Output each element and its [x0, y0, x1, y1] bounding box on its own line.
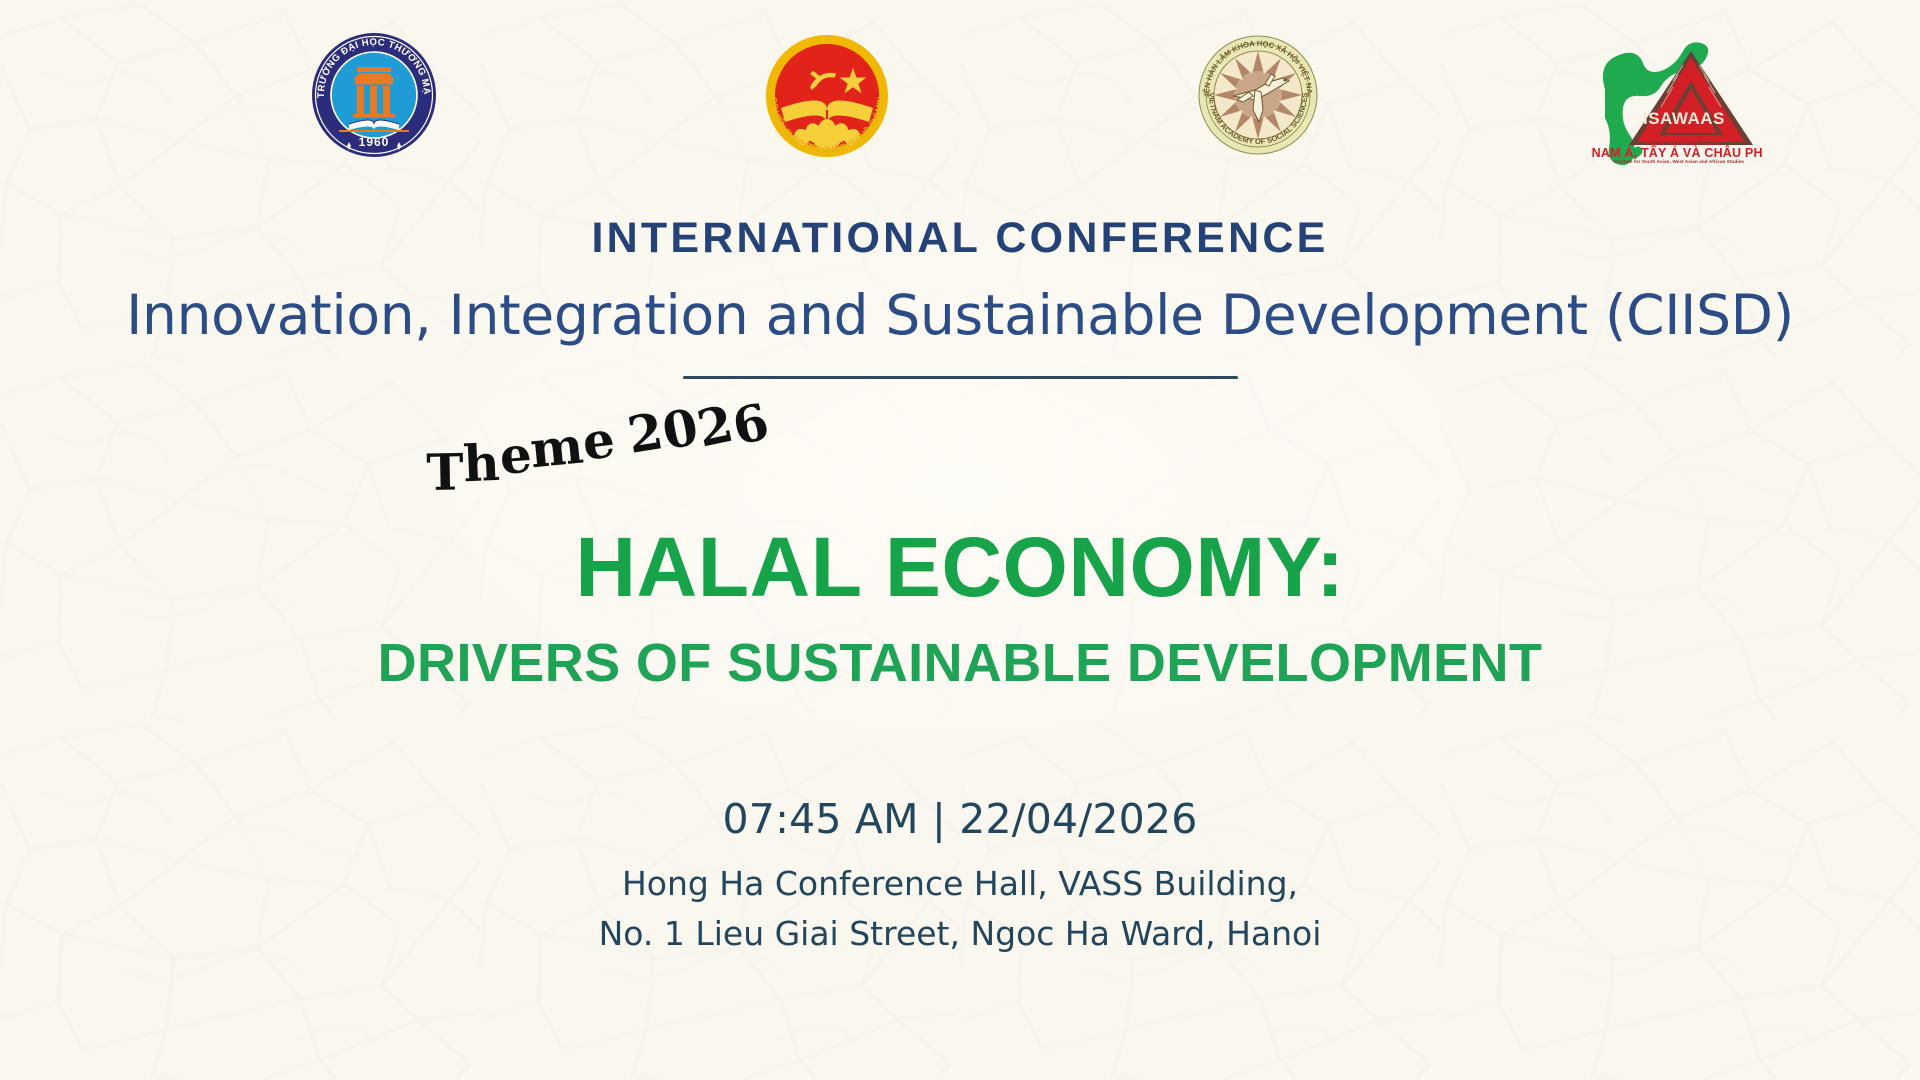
theme-block: HALAL ECONOMY: DRIVERS OF SUSTAINABLE DE… — [0, 525, 1920, 691]
header-block: INTERNATIONAL CONFERENCE Innovation, Int… — [0, 215, 1920, 379]
logo-thuongmai-year: 1960 — [358, 135, 389, 149]
venue-line-2: No. 1 Lieu Giai Street, Ngoc Ha Ward, Ha… — [0, 909, 1920, 959]
theme-stamp-space — [618, 463, 632, 465]
divider-wrap — [0, 376, 1920, 379]
conference-banner: TRƯỜNG ĐẠI HỌC THƯƠNG MẠI 1960 — [0, 0, 1920, 1080]
theme-stamp-char: e — [498, 430, 533, 482]
logo-isawaas-line2: NAM Á, TÂY Á VÀ CHÂU PHI — [1591, 145, 1761, 160]
theme-sub-line: DRIVERS OF SUSTAINABLE DEVELOPMENT — [0, 635, 1920, 692]
logo-row: TRƯỜNG ĐẠI HỌC THƯƠNG MẠI 1960 — [0, 22, 1920, 167]
logo-isawaas-acronym: ISAWAAS — [1643, 109, 1725, 128]
logo-thuongmai-university: TRƯỜNG ĐẠI HỌC THƯƠNG MẠI 1960 — [309, 30, 439, 160]
details-block: 07:45 AM | 22/04/2026 Hong Ha Conference… — [0, 795, 1920, 958]
venue-line-1: Hong Ha Conference Hall, VASS Building, — [0, 859, 1920, 909]
logo-isawaas-line3: Institute for South Asian, West Asian an… — [1613, 159, 1744, 164]
logo-vietnam-academy-social-sciences: VIỆN HÀN LÂM KHOA HỌC XÃ HỘI VIỆT NAM VI… — [1197, 34, 1319, 156]
conference-title: Innovation, Integration and Sustainable … — [0, 284, 1920, 347]
conference-kicker: INTERNATIONAL CONFERENCE — [0, 215, 1920, 262]
event-datetime: 07:45 AM | 22/04/2026 — [0, 795, 1920, 843]
theme-stamp-char: T — [426, 447, 464, 498]
logo-hcm-national-academy-politics: HỌC VIỆN CHÍNH TRỊ QUỐC GIA HỒ CHÍ MINH — [757, 30, 897, 160]
logo-isawaas: ISAWAAS VIỆN NGHIÊN CỨU NAM Á, TÂY Á VÀ … — [1587, 25, 1762, 165]
theme-stamp-char: m — [528, 420, 585, 475]
theme-2026-stamp: T h e m e 2 0 2 6 — [423, 394, 770, 491]
theme-main-line: HALAL ECONOMY: — [0, 525, 1920, 611]
theme-stamp-char: h — [462, 438, 501, 490]
event-venue: Hong Ha Conference Hall, VASS Building, … — [0, 859, 1920, 958]
theme-stamp-char: e — [580, 414, 618, 468]
header-divider — [683, 376, 1238, 379]
